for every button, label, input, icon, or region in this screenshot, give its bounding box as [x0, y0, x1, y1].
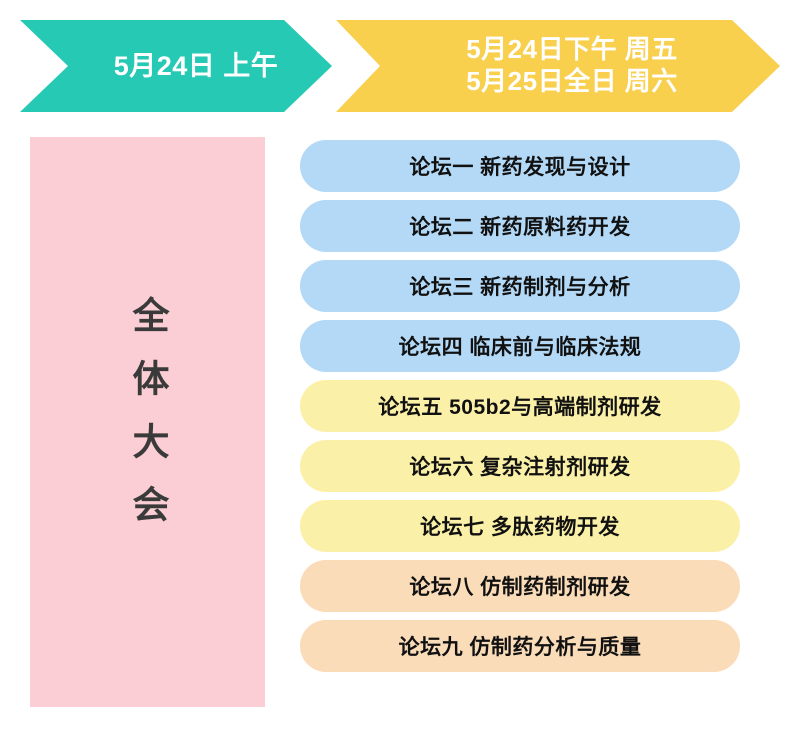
forum-label: 论坛六 复杂注射剂研发 — [409, 451, 630, 481]
forum-pill[interactable]: 论坛六 复杂注射剂研发 — [300, 440, 740, 492]
forum-label: 论坛一 新药发现与设计 — [409, 151, 630, 181]
schedule-body: 全体大会 论坛一 新药发现与设计论坛二 新药原料药开发论坛三 新药制剂与分析论坛… — [0, 137, 800, 709]
forum-pill[interactable]: 论坛二 新药原料药开发 — [300, 200, 740, 252]
forum-label: 论坛四 临床前与临床法规 — [399, 331, 642, 361]
forum-pill[interactable]: 论坛四 临床前与临床法规 — [300, 320, 740, 372]
forum-label: 论坛三 新药制剂与分析 — [409, 271, 630, 301]
forum-pill[interactable]: 论坛七 多肽药物开发 — [300, 500, 740, 552]
plenary-session-label: 全体大会 — [129, 296, 166, 548]
schedule-infographic: 5月24日 上午 5月24日下午 周五 5月25日全日 周六 全体大会 论坛一 … — [0, 0, 800, 733]
forum-label: 论坛二 新药原料药开发 — [409, 211, 630, 241]
forum-label: 论坛八 仿制药制剂研发 — [409, 571, 630, 601]
forum-label: 论坛五 505b2与高端制剂研发 — [378, 391, 661, 421]
banner-morning-label: 5月24日 上午 — [114, 50, 279, 83]
plenary-session-panel: 全体大会 — [30, 137, 265, 707]
forum-label: 论坛九 仿制药分析与质量 — [399, 631, 642, 661]
forum-pill[interactable]: 论坛三 新药制剂与分析 — [300, 260, 740, 312]
forum-pill[interactable]: 论坛八 仿制药制剂研发 — [300, 560, 740, 612]
forum-pill[interactable]: 论坛五 505b2与高端制剂研发 — [300, 380, 740, 432]
banner-afternoon-label: 5月24日下午 周五 5月25日全日 周六 — [466, 34, 678, 97]
banner-morning-session: 5月24日 上午 — [20, 20, 332, 112]
forum-label: 论坛七 多肽药物开发 — [420, 511, 620, 541]
banner-afternoon-session: 5月24日下午 周五 5月25日全日 周六 — [336, 20, 780, 112]
forum-pill[interactable]: 论坛九 仿制药分析与质量 — [300, 620, 740, 672]
header-banners: 5月24日 上午 5月24日下午 周五 5月25日全日 周六 — [0, 20, 800, 112]
forum-pill[interactable]: 论坛一 新药发现与设计 — [300, 140, 740, 192]
forum-list: 论坛一 新药发现与设计论坛二 新药原料药开发论坛三 新药制剂与分析论坛四 临床前… — [300, 140, 740, 672]
